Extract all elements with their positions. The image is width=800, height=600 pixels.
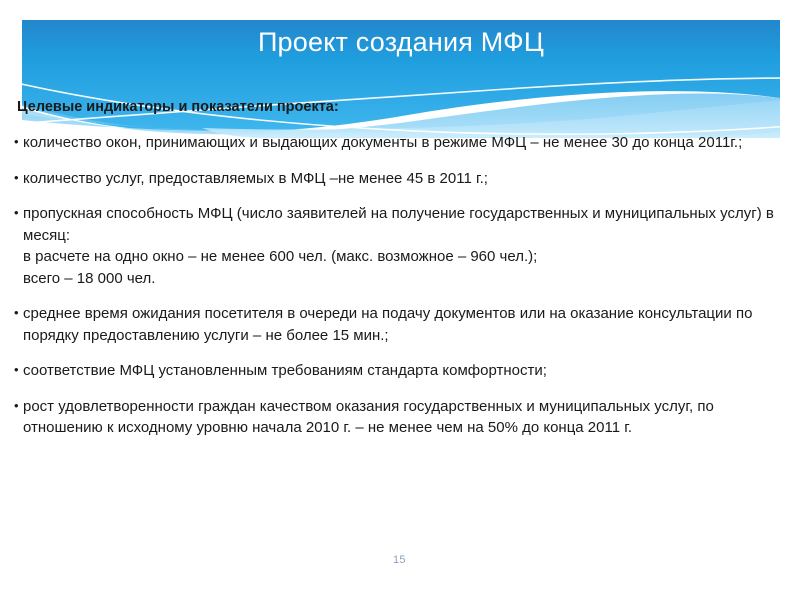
list-item: среднее время ожидания посетителя в очер…: [14, 303, 786, 346]
page-number: 15: [393, 554, 406, 566]
indicator-list: количество окон, принимающих и выдающих …: [14, 132, 786, 439]
list-item: соответствие МФЦ установленным требовани…: [14, 360, 786, 382]
list-item: количество услуг, предоставляемых в МФЦ …: [14, 168, 786, 190]
bullet-subline: всего – 18 000 чел.: [23, 268, 786, 290]
bullet-text: рост удовлетворенности граждан качеством…: [23, 398, 714, 437]
list-item: количество окон, принимающих и выдающих …: [14, 132, 786, 154]
bullet-subline: в расчете на одно окно – не менее 600 че…: [23, 246, 786, 268]
page-title: Проект создания МФЦ: [22, 26, 780, 58]
bullet-text: количество окон, принимающих и выдающих …: [23, 134, 742, 151]
bullet-text: пропускная способность МФЦ (число заявит…: [23, 205, 774, 244]
list-item: рост удовлетворенности граждан качеством…: [14, 396, 786, 439]
bullet-text: среднее время ожидания посетителя в очер…: [23, 305, 752, 344]
list-item: пропускная способность МФЦ (число заявит…: [14, 203, 786, 289]
bullet-text: соответствие МФЦ установленным требовани…: [23, 362, 547, 379]
slide-content: Целевые индикаторы и показатели проекта:…: [14, 98, 786, 453]
content-lead-heading: Целевые индикаторы и показатели проекта:: [17, 98, 786, 116]
bullet-text: количество услуг, предоставляемых в МФЦ …: [23, 170, 488, 187]
